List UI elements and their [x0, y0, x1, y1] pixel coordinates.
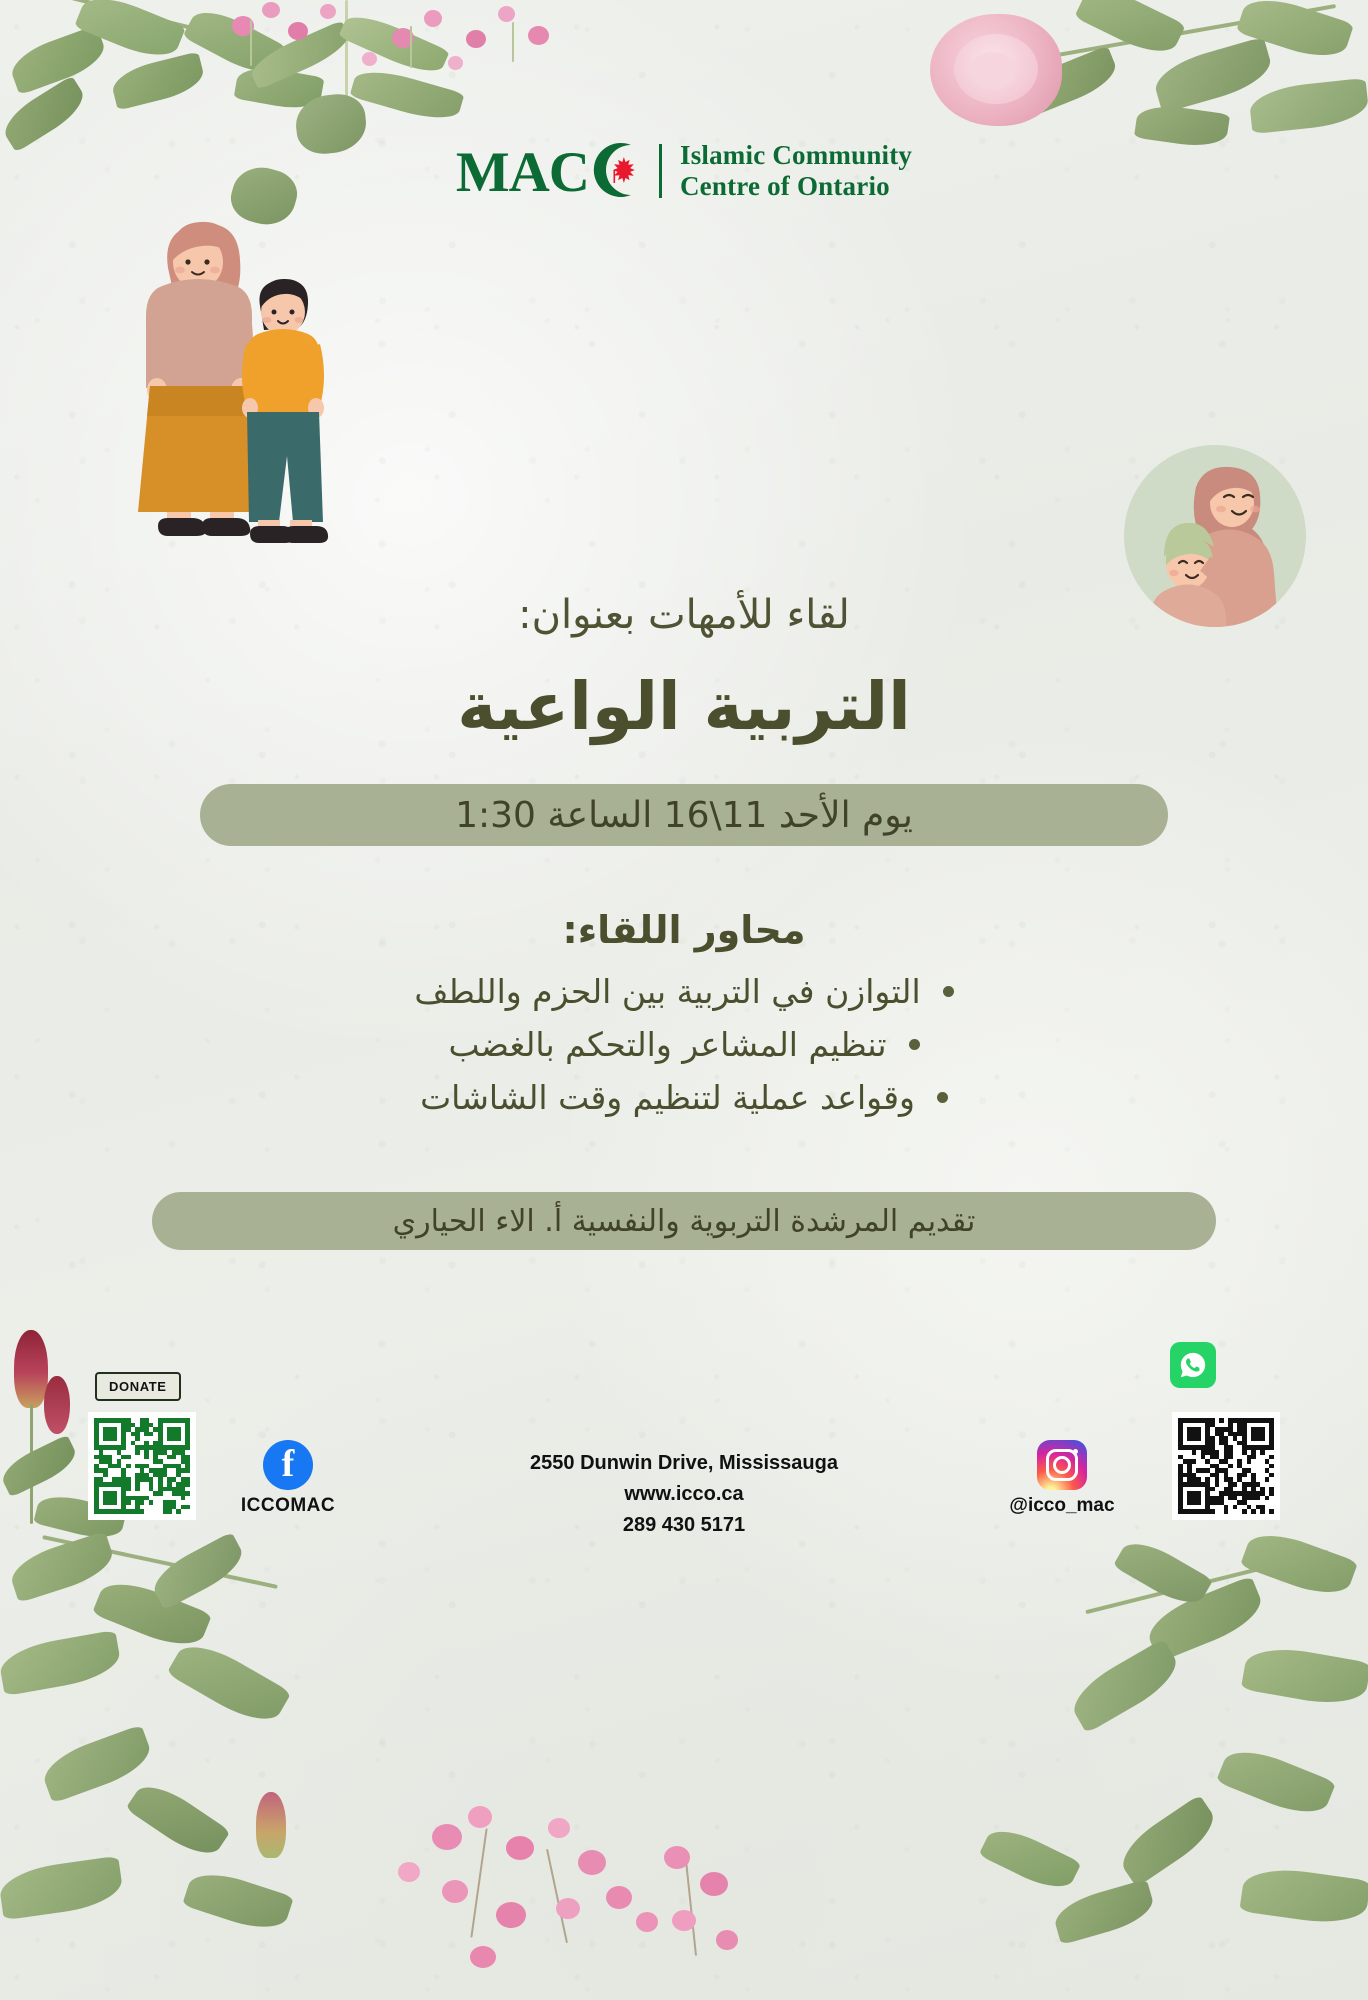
phone-line: 289 430 5171	[0, 1510, 1368, 1541]
topic-label: وقواعد عملية لتنظيم وقت الشاشات	[420, 1078, 915, 1117]
org-name-line-2: Centre of Ontario	[680, 171, 912, 202]
bullet-dot-icon	[943, 986, 954, 997]
date-time-badge: يوم الأحد 11\16 الساعة 1:30	[200, 784, 1168, 846]
bullet-dot-icon	[909, 1039, 920, 1050]
kicker-text: لقاء للأمهات بعنوان:	[0, 592, 1368, 638]
list-item: وقواعد عملية لتنظيم وقت الشاشات	[0, 1078, 1368, 1117]
topic-label: التوازن في التربية بين الحزم واللطف	[414, 972, 920, 1011]
topics-list: التوازن في التربية بين الحزم واللطف تنظي…	[0, 972, 1368, 1131]
list-item: تنظيم المشاعر والتحكم بالغضب	[0, 1025, 1368, 1064]
whatsapp-icon[interactable]	[1170, 1342, 1216, 1388]
mac-wordmark: MAC	[456, 141, 641, 201]
mac-letters: MAC	[456, 141, 589, 204]
mac-logo: MAC Islamic Community Centre of Ontario	[0, 140, 1368, 203]
bullet-dot-icon	[937, 1092, 948, 1103]
address-line: 2550 Dunwin Drive, Mississauga	[0, 1448, 1368, 1479]
topic-label: تنظيم المشاعر والتحكم بالغضب	[448, 1025, 886, 1064]
logo-divider	[659, 144, 662, 198]
donate-button[interactable]: DONATE	[95, 1372, 181, 1401]
list-item: التوازن في التربية بين الحزم واللطف	[0, 972, 1368, 1011]
page-title: التربية الواعية	[0, 668, 1368, 745]
topics-heading: محاور اللقاء:	[0, 908, 1368, 952]
org-name-line-1: Islamic Community	[680, 140, 912, 171]
crescent-moon-maple-leaf-icon	[585, 141, 641, 199]
organization-name: Islamic Community Centre of Ontario	[680, 140, 912, 203]
contact-info: 2550 Dunwin Drive, Mississauga www.icco.…	[0, 1448, 1368, 1541]
presenter-badge: تقديم المرشدة التربوية والنفسية أ. الاء …	[152, 1192, 1216, 1250]
mother-and-child-illustration	[110, 190, 350, 560]
website-line[interactable]: www.icco.ca	[0, 1479, 1368, 1510]
